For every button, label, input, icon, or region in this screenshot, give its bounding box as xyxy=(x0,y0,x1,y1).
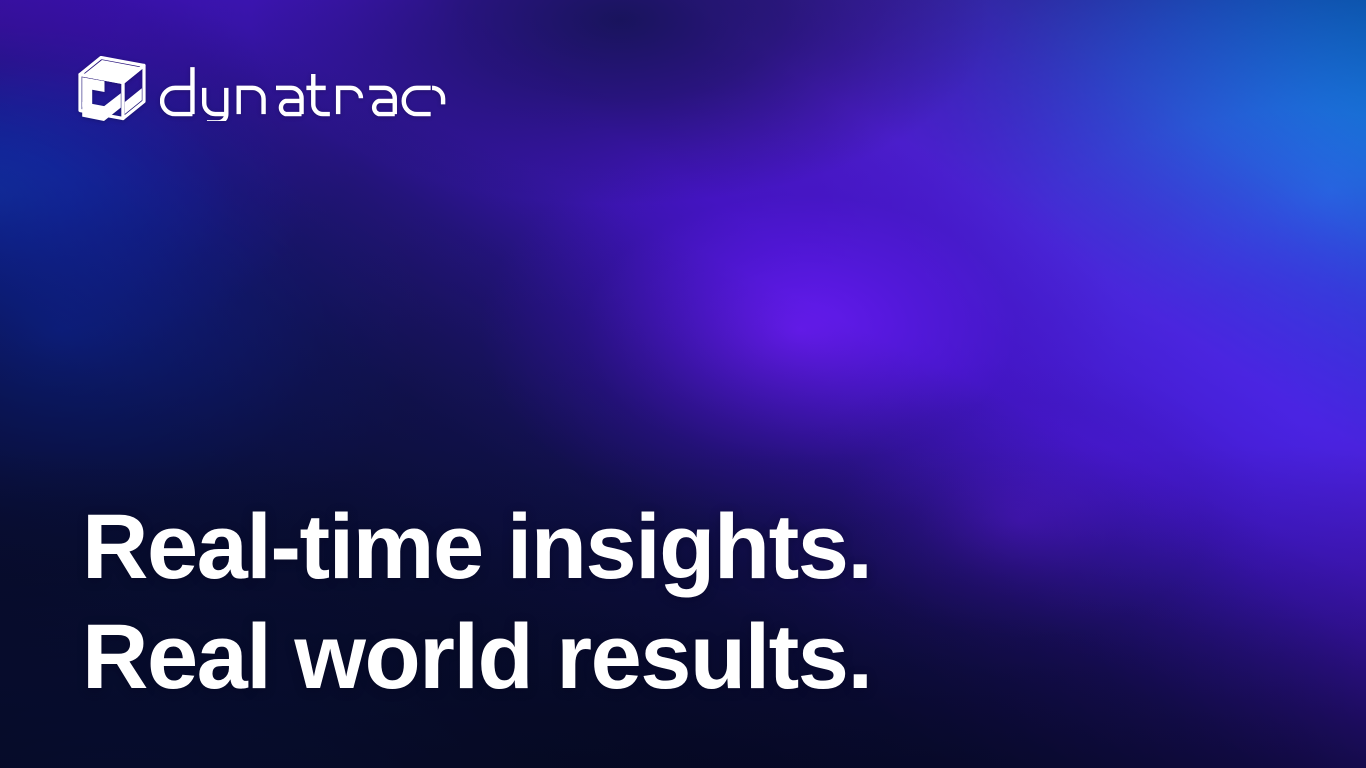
headline-line-2: Real world results. xyxy=(82,602,1082,712)
dynatrace-wordmark: dynatrace xyxy=(160,63,450,121)
brand-slide: dynatrace xyxy=(0,0,1366,768)
dynatrace-logo: dynatrace xyxy=(78,55,450,129)
dynatrace-cube-icon xyxy=(78,56,146,128)
headline: Real-time insights. Real world results. xyxy=(82,492,1082,712)
headline-line-1: Real-time insights. xyxy=(82,492,1082,602)
